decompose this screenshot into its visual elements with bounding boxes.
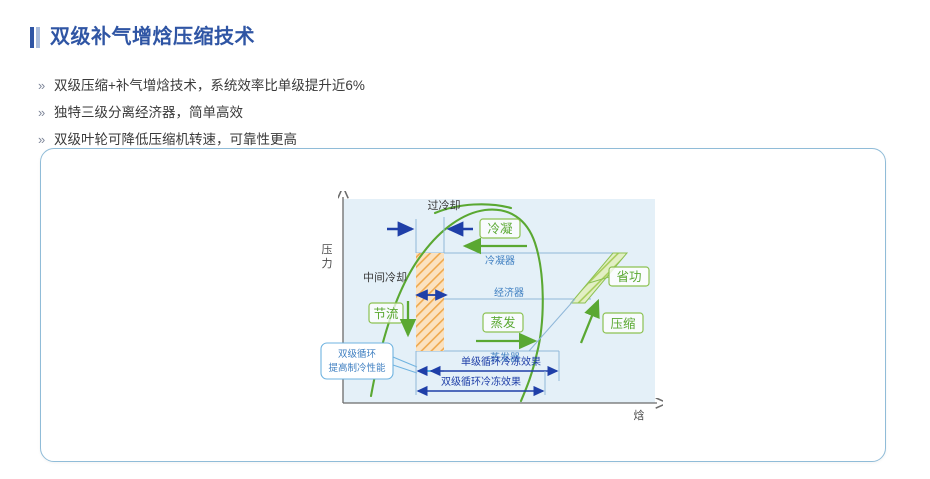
y-axis-label-char-1: 压 <box>322 243 333 256</box>
label-compress: 压缩 <box>610 316 635 331</box>
label-subcooling: 过冷却 <box>428 199 461 212</box>
figure-card: 过冷却 中间冷却 冷凝 冷凝器 经济器 蒸发 蒸发器 节流 省功 <box>40 148 886 462</box>
label-power-saving: 省功 <box>616 270 641 284</box>
intercooling-hatch-region <box>416 253 444 351</box>
label-single-stage-effect: 单级循环冷冻效果 <box>461 355 541 368</box>
accent-bar-dark-icon <box>30 27 34 48</box>
chevron-double-right-icon: » <box>38 131 54 149</box>
list-item: » 双级压缩+补气增焓技术，系统效率比单级提升近6% <box>38 77 930 95</box>
label-condense: 冷凝 <box>487 221 513 236</box>
accent-bar-group <box>30 26 40 48</box>
list-item: » 双级叶轮可降低压缩机转速，可靠性更高 <box>38 131 930 149</box>
chevron-double-right-icon: » <box>38 104 54 122</box>
ph-diagram: 过冷却 中间冷却 冷凝 冷凝器 经济器 蒸发 蒸发器 节流 省功 <box>313 191 663 436</box>
label-throttle: 节流 <box>373 307 399 321</box>
list-item-label: 双级叶轮可降低压缩机转速，可靠性更高 <box>54 131 297 149</box>
label-two-stage-effect: 双级循环冷冻效果 <box>441 375 521 388</box>
y-axis-label-char-2: 力 <box>322 257 333 270</box>
label-intercooling: 中间冷却 <box>363 271 407 284</box>
x-axis-label: 焓 <box>634 408 645 422</box>
section-header: 双级补气增焓压缩技术 <box>0 0 930 63</box>
page-title: 双级补气增焓压缩技术 <box>50 25 255 49</box>
callout-line-1: 双级循环 <box>338 348 376 360</box>
label-condenser: 冷凝器 <box>485 254 515 267</box>
feature-bullet-list: » 双级压缩+补气增焓技术，系统效率比单级提升近6% » 独特三级分离经济器，简… <box>0 77 930 149</box>
callout-line-2: 提高制冷性能 <box>328 362 386 374</box>
label-economizer: 经济器 <box>494 286 524 299</box>
label-evaporate: 蒸发 <box>490 315 516 330</box>
ph-diagram-svg: 过冷却 中间冷却 冷凝 冷凝器 经济器 蒸发 蒸发器 节流 省功 <box>313 191 663 436</box>
accent-bar-light-icon <box>36 27 40 48</box>
list-item-label: 双级压缩+补气增焓技术，系统效率比单级提升近6% <box>54 77 365 95</box>
list-item-label: 独特三级分离经济器，简单高效 <box>54 104 243 122</box>
chevron-double-right-icon: » <box>38 77 54 95</box>
list-item: » 独特三级分离经济器，简单高效 <box>38 104 930 122</box>
